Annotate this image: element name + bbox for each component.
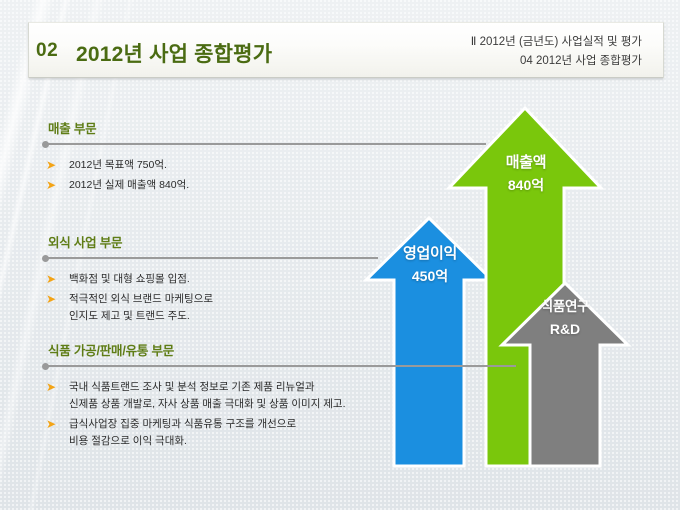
- divider-dot-icon: [42, 141, 49, 148]
- bullet-text: 급식사업장 집중 마케팅과 식품유통 구조를 개선으로: [69, 418, 296, 430]
- divider-dot-icon: [42, 255, 49, 262]
- bullet-list: ➤ 2012년 목표액 750억. ➤ 2012년 실제 매출액 840억.: [46, 157, 486, 194]
- bullet-list: ➤ 국내 식품트랜드 조사 및 분석 정보로 기존 제품 리뉴얼과 신제품 상품…: [46, 379, 516, 450]
- list-item: ➤ 2012년 목표액 750억.: [46, 157, 486, 174]
- section-sales: 매출 부문 ➤ 2012년 목표액 750억. ➤ 2012년 실제 매출액 8…: [46, 118, 486, 197]
- section-food-processing: 식품 가공/판매/유통 부문 ➤ 국내 식품트랜드 조사 및 분석 정보로 기존…: [46, 340, 516, 453]
- section-title: 식품 가공/판매/유통 부문: [46, 340, 516, 359]
- section-divider: [46, 257, 378, 259]
- bullet-text-continued: 인지도 제고 및 트랜드 주도.: [69, 308, 378, 325]
- section-title: 외식 사업 부문: [46, 232, 378, 251]
- bullet-text: 2012년 목표액 750억.: [69, 159, 167, 171]
- section-title: 매출 부문: [46, 118, 486, 137]
- arrow-bullet-icon: ➤: [46, 417, 60, 431]
- bullet-list: ➤ 백화점 및 대형 쇼핑몰 입점. ➤ 적극적인 외식 브랜드 마케팅으로 인…: [46, 271, 378, 325]
- section-divider: [46, 143, 486, 145]
- bullet-text: 국내 식품트랜드 조사 및 분석 정보로 기존 제품 리뉴얼과: [69, 381, 315, 393]
- arrow-bullet-icon: ➤: [46, 272, 60, 286]
- arrow-bullet-icon: ➤: [46, 292, 60, 306]
- slide-canvas: 02 2012년 사업 종합평가 Ⅱ 2012년 (금년도) 사업실적 및 평가…: [0, 0, 680, 510]
- bullet-text-continued: 신제품 상품 개발로, 자사 상품 매출 극대화 및 상품 이미지 제고.: [69, 396, 516, 413]
- section-restaurant: 외식 사업 부문 ➤ 백화점 및 대형 쇼핑몰 입점. ➤ 적극적인 외식 브랜…: [46, 232, 378, 328]
- list-item: ➤ 2012년 실제 매출액 840억.: [46, 177, 486, 194]
- list-item: ➤ 국내 식품트랜드 조사 및 분석 정보로 기존 제품 리뉴얼과 신제품 상품…: [46, 379, 516, 413]
- bullet-text: 2012년 실제 매출액 840억.: [69, 179, 189, 191]
- list-item: ➤ 급식사업장 집중 마케팅과 식품유통 구조를 개선으로 비용 절감으로 이익…: [46, 416, 516, 450]
- bullet-text: 백화점 및 대형 쇼핑몰 입점.: [69, 273, 190, 285]
- divider-dot-icon: [42, 363, 49, 370]
- bullet-text: 적극적인 외식 브랜드 마케팅으로: [69, 293, 213, 305]
- list-item: ➤ 백화점 및 대형 쇼핑몰 입점.: [46, 271, 378, 288]
- arrow-bullet-icon: ➤: [46, 158, 60, 172]
- bullet-text-continued: 비용 절감으로 이익 극대화.: [69, 433, 516, 450]
- arrow-bullet-icon: ➤: [46, 380, 60, 394]
- arrow-bullet-icon: ➤: [46, 178, 60, 192]
- list-item: ➤ 적극적인 외식 브랜드 마케팅으로 인지도 제고 및 트랜드 주도.: [46, 291, 378, 325]
- section-divider: [46, 365, 516, 367]
